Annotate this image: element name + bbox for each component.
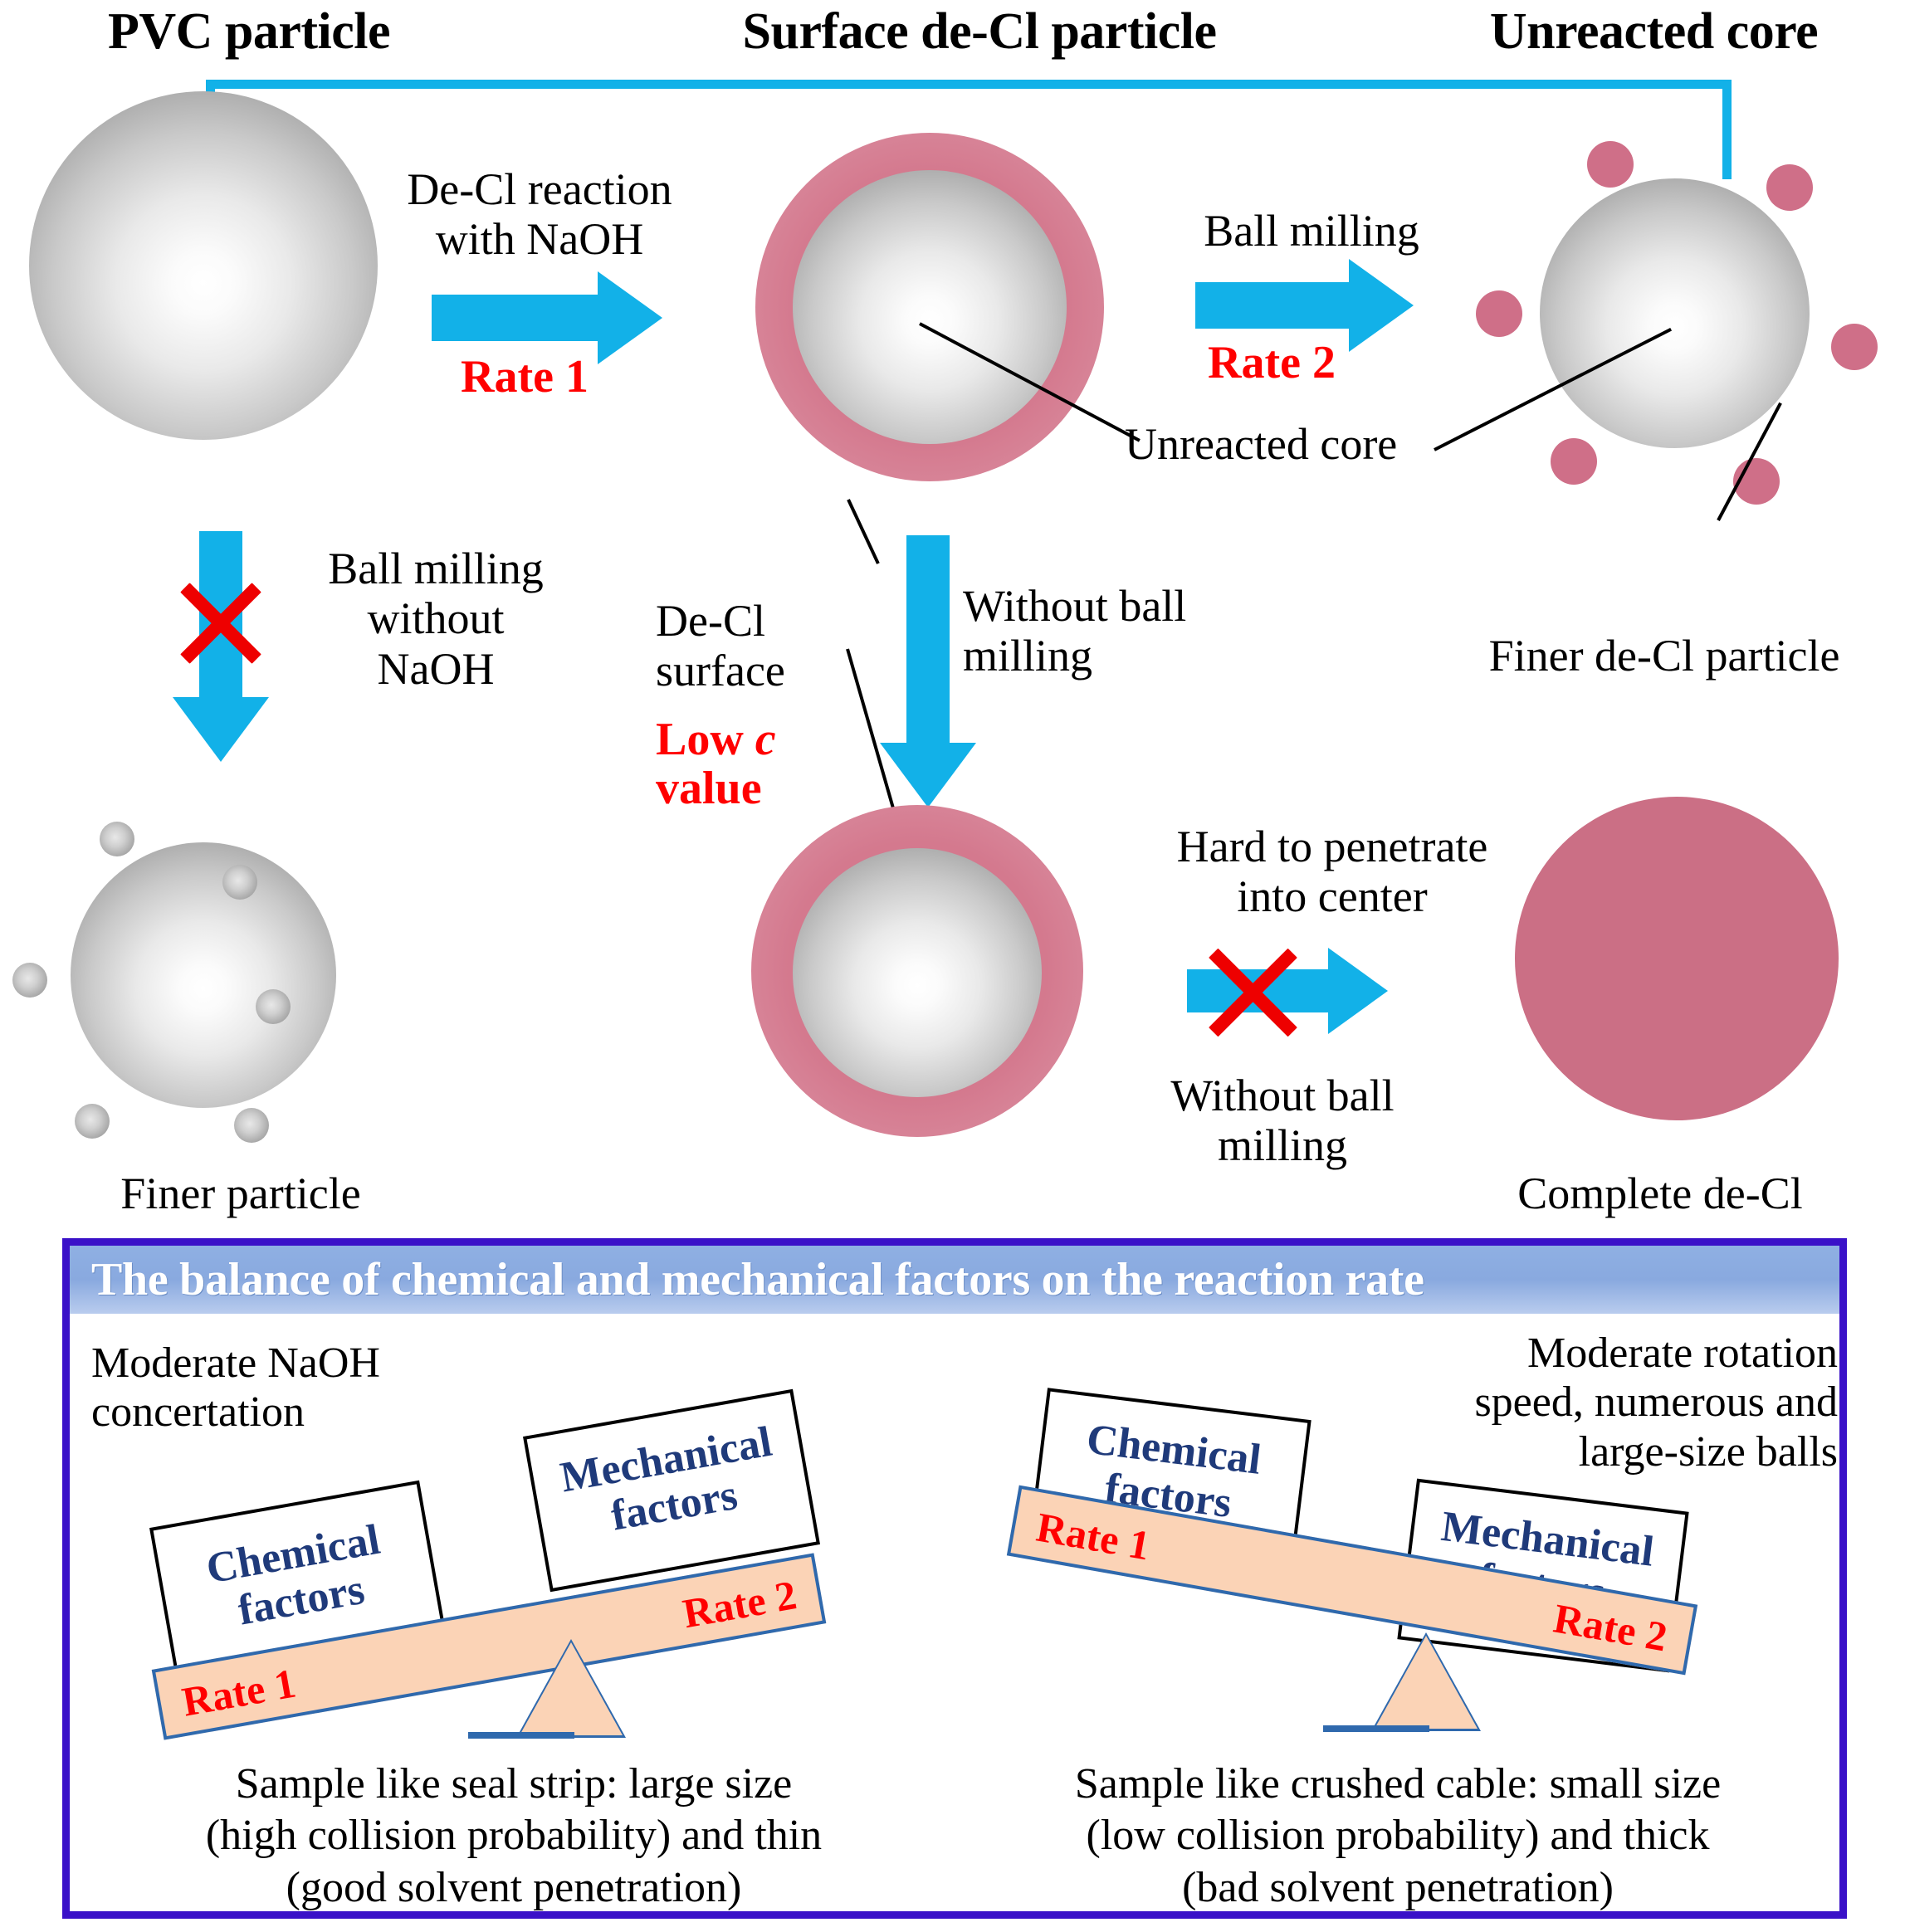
complete-decl-sphere bbox=[1515, 797, 1839, 1120]
arrow-without-ball-milling bbox=[906, 535, 950, 743]
finer-particle-dot-4 bbox=[256, 989, 291, 1024]
title-unreacted-core: Unreacted core bbox=[1403, 5, 1905, 59]
leader-decl-surface-upper bbox=[847, 499, 880, 564]
balance-panel: The balance of chemical and mechanical f… bbox=[62, 1238, 1847, 1919]
balance-scale-right: Chemical factors Mechanical factors Rate… bbox=[991, 1391, 1771, 1748]
beam-rate-2-left: Rate 2 bbox=[680, 1573, 799, 1634]
hard-to-penetrate-label: Hard to penetrate into center bbox=[1100, 822, 1565, 922]
title-pvc-particle: PVC particle bbox=[0, 5, 498, 59]
decl-reaction-label: De-Cl reaction with NaOH bbox=[378, 164, 701, 265]
unreacted-core-sphere bbox=[1540, 178, 1810, 448]
decl-surface-label: De-Cl surface bbox=[656, 596, 847, 696]
panel-caption-left: Sample like seal strip: large size (high… bbox=[86, 1759, 941, 1914]
recycle-connector-horizontal bbox=[206, 80, 1732, 89]
unreacted-center-particle-core bbox=[793, 848, 1042, 1097]
rate-2-label-step2: Rate 2 bbox=[1208, 339, 1336, 388]
rate-1-label-step1: Rate 1 bbox=[461, 353, 589, 402]
panel-caption-right: Sample like crushed cable: small size (l… bbox=[958, 1759, 1838, 1914]
finer-particle-label: Finer particle bbox=[25, 1168, 457, 1218]
plate-mechanical-factors-left-text: Mechanical factors bbox=[530, 1414, 810, 1553]
arrow-ball-milling bbox=[1195, 282, 1349, 329]
panel-banner: The balance of chemical and mechanical f… bbox=[70, 1246, 1839, 1314]
complete-decl-label: Complete de-Cl bbox=[1428, 1168, 1893, 1218]
beam-rate-1-left: Rate 1 bbox=[179, 1662, 299, 1723]
low-c-value-label: Low cvalue bbox=[656, 715, 776, 813]
finer-decl-dot-1 bbox=[1587, 141, 1634, 188]
balance-scale-left: Chemical factors Mechanical factors Rate… bbox=[144, 1403, 925, 1752]
finer-decl-particle-label: Finer de-Cl particle bbox=[1440, 631, 1888, 681]
surface-decl-particle-core bbox=[793, 170, 1067, 444]
finer-particle-sphere bbox=[71, 842, 336, 1108]
red-cross-icon-right bbox=[1197, 936, 1309, 1048]
finer-decl-dot-4 bbox=[1831, 324, 1878, 370]
ball-milling-without-naoh-label: Ball milling without NaOH bbox=[270, 544, 602, 694]
title-surface-decl-particle: Surface de-Cl particle bbox=[564, 5, 1395, 59]
without-ball-milling-label-2: Without ball milling bbox=[1116, 1071, 1448, 1171]
finer-decl-dot-5 bbox=[1551, 438, 1597, 485]
finer-particle-dot-3 bbox=[12, 963, 47, 998]
arrow-decl-reaction bbox=[432, 295, 598, 341]
panel-banner-title: The balance of chemical and mechanical f… bbox=[91, 1253, 1424, 1306]
finer-particle-dot-6 bbox=[234, 1108, 269, 1143]
finer-decl-dot-3 bbox=[1476, 290, 1522, 337]
finer-particle-dot-2 bbox=[222, 865, 257, 900]
finer-decl-dot-2 bbox=[1766, 164, 1813, 211]
without-ball-milling-label: Without ball milling bbox=[963, 581, 1262, 681]
unreacted-core-callout: Unreacted core bbox=[1125, 419, 1523, 469]
finer-particle-dot-1 bbox=[100, 822, 134, 856]
ball-milling-label: Ball milling bbox=[1145, 206, 1478, 256]
pvc-particle-sphere bbox=[29, 91, 378, 440]
red-cross-icon-left bbox=[170, 573, 271, 674]
beam-rate-2-right: Rate 2 bbox=[1551, 1597, 1670, 1657]
recycle-connector-vertical-right bbox=[1722, 80, 1732, 179]
finer-particle-dot-5 bbox=[75, 1104, 110, 1139]
leader-decl-surface-lower bbox=[846, 648, 896, 812]
beam-rate-1-right: Rate 1 bbox=[1033, 1505, 1153, 1566]
